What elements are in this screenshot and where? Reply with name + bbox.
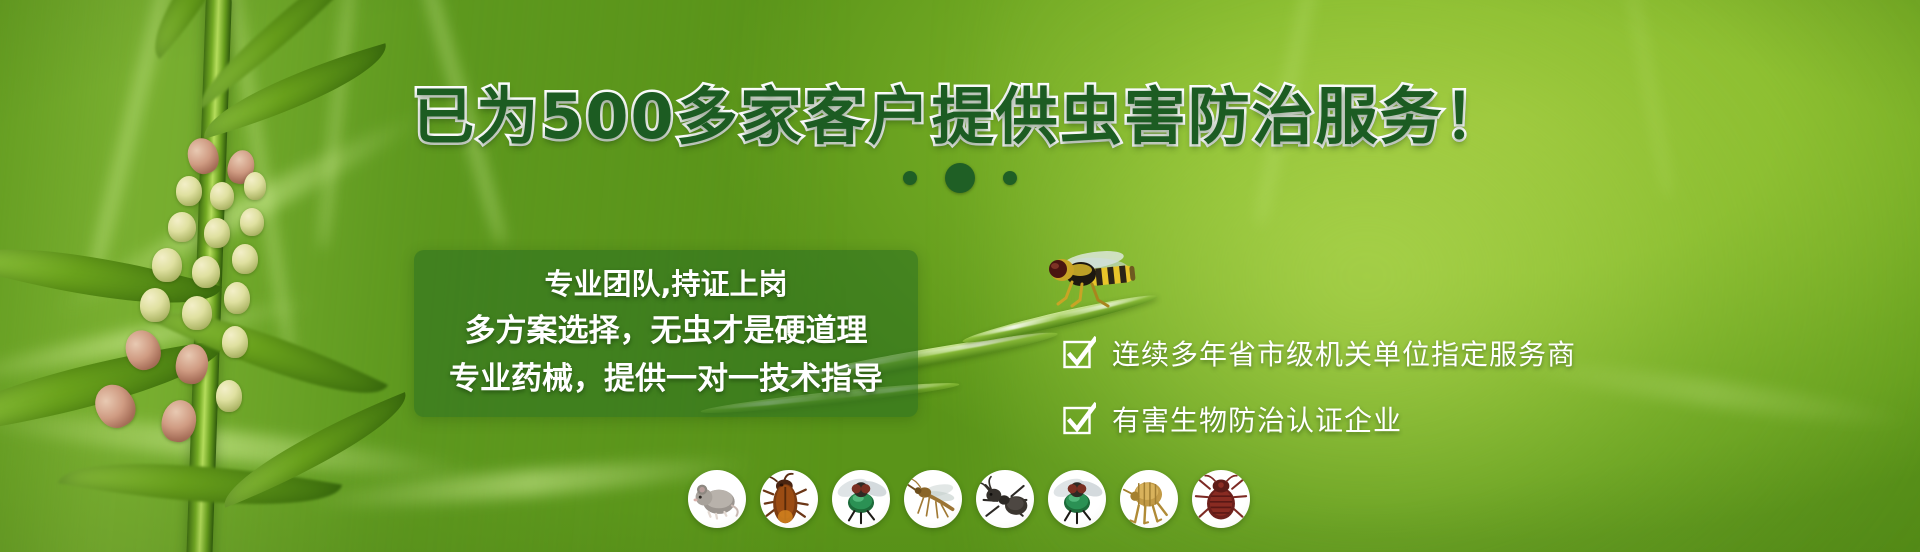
credentials-checklist: 连续多年省市级机关单位指定服务商 有害生物防治认证企业 (1062, 333, 1576, 465)
credential-label-1: 连续多年省市级机关单位指定服务商 (1112, 333, 1576, 373)
selling-points-box: 专业团队,持证上岗 多方案选择，无虫才是硬道理 专业药械，提供一对一技术指导 (414, 250, 918, 417)
selling-point-line-3: 专业药械，提供一对一技术指导 (436, 362, 896, 397)
decorative-dot-row (0, 163, 1920, 193)
mouse-icon[interactable] (688, 470, 746, 528)
banner-headline: 已为500多家客户提供虫害防治服务！ (0, 86, 1920, 148)
credential-item-2: 有害生物防治认证企业 (1062, 399, 1576, 439)
bedbug-icon[interactable] (1192, 470, 1250, 528)
ant-icon[interactable] (976, 470, 1034, 528)
decorative-dot-small-left (903, 171, 917, 185)
pest-icon-strip (688, 470, 1250, 528)
selling-point-line-1: 专业团队,持证上岗 (436, 268, 896, 300)
mosquito-icon[interactable] (904, 470, 962, 528)
cockroach-icon[interactable] (760, 470, 818, 528)
banner-headline-text: 已为500多家客户提供虫害防治服务！ (412, 80, 1507, 153)
flea-icon[interactable] (1120, 470, 1178, 528)
credential-item-1: 连续多年省市级机关单位指定服务商 (1062, 333, 1576, 373)
selling-point-line-2: 多方案选择，无虫才是硬道理 (436, 314, 896, 349)
fly-icon[interactable] (832, 470, 890, 528)
pest-control-hero-banner: 已为500多家客户提供虫害防治服务！ 专业团队,持证上岗 多方案选择，无虫才是硬… (0, 0, 1920, 552)
credential-label-2: 有害生物防治认证企业 (1112, 399, 1402, 439)
checkbox-checked-icon (1062, 402, 1096, 436)
blowfly-icon[interactable] (1048, 470, 1106, 528)
decorative-dot-small-right (1003, 171, 1017, 185)
checkbox-checked-icon (1062, 336, 1096, 370)
decorative-dot-large (945, 163, 975, 193)
